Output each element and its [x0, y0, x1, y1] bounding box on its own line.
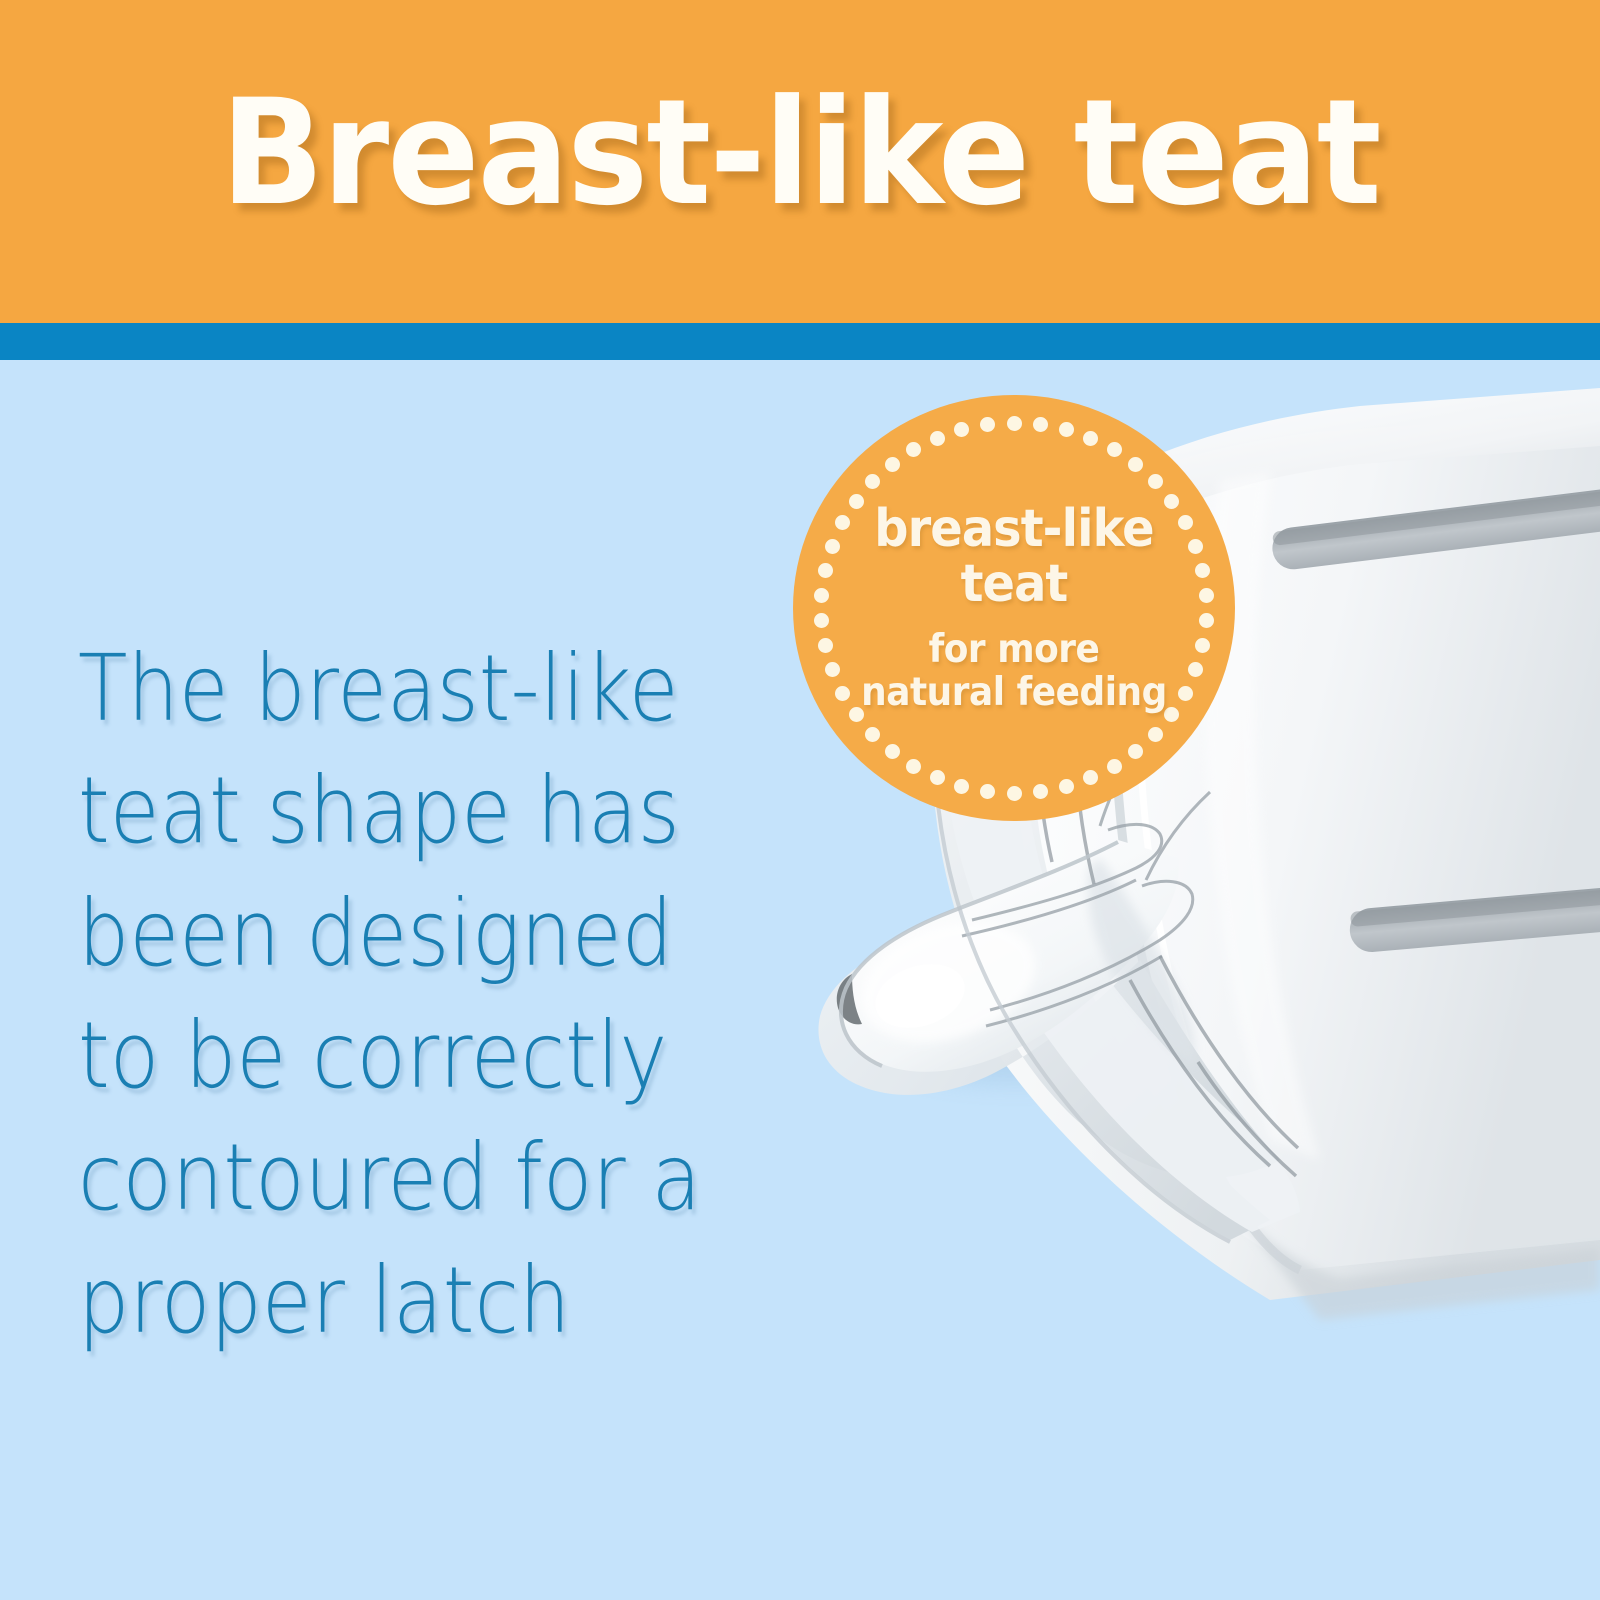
- badge-headline: breast-like teat: [860, 502, 1167, 612]
- body-line: to be correctly: [78, 995, 712, 1117]
- product-feature-poster: Breast-like teat The breast-like teat sh…: [0, 0, 1600, 1600]
- body-line: teat shape has: [78, 750, 712, 872]
- divider-bar: [0, 323, 1600, 360]
- badge-subline: for more natural feeding: [860, 629, 1167, 715]
- body-line: contoured for a: [78, 1117, 712, 1239]
- badge-text: breast-like teat for more natural feedin…: [793, 395, 1235, 821]
- header-banner: Breast-like teat: [0, 0, 1600, 323]
- page-title: Breast-like teat: [220, 80, 1379, 226]
- body-paragraph: The breast-like teat shape has been desi…: [78, 628, 712, 1362]
- body-line: The breast-like: [78, 628, 712, 750]
- status-badge: breast-like teat for more natural feedin…: [793, 395, 1235, 821]
- body-line: been designed: [78, 873, 712, 995]
- body-line: proper latch: [78, 1240, 712, 1362]
